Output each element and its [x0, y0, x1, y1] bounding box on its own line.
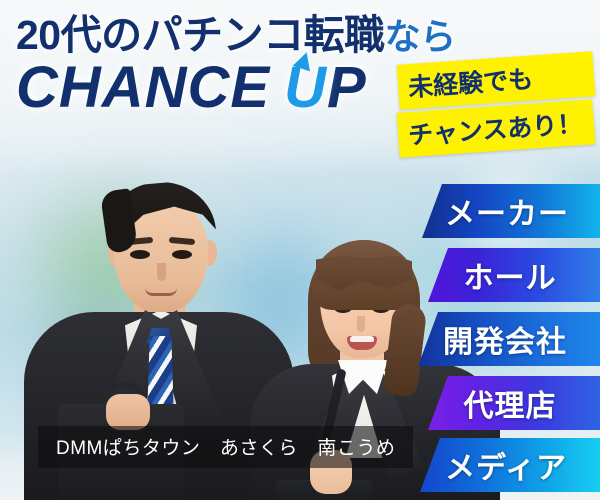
- man-hand: [106, 394, 150, 430]
- category-button-media[interactable]: メディア: [420, 438, 600, 492]
- man-mouth: [145, 288, 177, 296]
- category-label-media: メディア: [445, 443, 567, 487]
- category-button-hall[interactable]: ホール: [428, 248, 600, 302]
- man-eye-right: [172, 250, 192, 259]
- headline-up-letter-p: P: [327, 55, 367, 120]
- credit-text: DMMぱちタウン あさくら 南こうめ: [56, 438, 395, 459]
- woman-nose: [357, 316, 365, 332]
- man-nose: [157, 263, 166, 281]
- category-label-maker: メーカー: [445, 189, 569, 233]
- category-button-agency[interactable]: 代理店: [428, 376, 600, 430]
- headline-chance-word: CHANCE: [16, 55, 270, 120]
- no-experience-badge: 未経験でも チャンスあり！: [398, 58, 594, 151]
- credit-bar: DMMぱちタウン あさくら 南こうめ: [38, 426, 413, 468]
- headline-line-2: CHANCEUP: [16, 59, 436, 117]
- headline-line-1: 20代のパチンコ転職なら: [16, 14, 436, 57]
- headline-line-1-main: 20代のパチンコ転職: [16, 12, 385, 58]
- badge-line-2: チャンスあり！: [397, 99, 596, 158]
- category-button-development-company[interactable]: 開発会社: [418, 312, 600, 366]
- category-label-hall: ホール: [464, 253, 557, 297]
- category-label-development-company: 開発会社: [443, 317, 567, 361]
- headline-line-1-suffix: なら: [385, 16, 456, 57]
- man-eye-left: [130, 250, 150, 259]
- category-label-agency: 代理店: [464, 381, 557, 425]
- category-button-maker[interactable]: メーカー: [422, 184, 600, 238]
- woman-teeth: [350, 336, 374, 342]
- headline: 20代のパチンコ転職なら CHANCEUP: [16, 14, 436, 117]
- headline-up-word: UP: [284, 59, 367, 117]
- recruitment-banner: 20代のパチンコ転職なら CHANCEUP 未経験でも チャンスあり！ メーカー…: [0, 0, 600, 500]
